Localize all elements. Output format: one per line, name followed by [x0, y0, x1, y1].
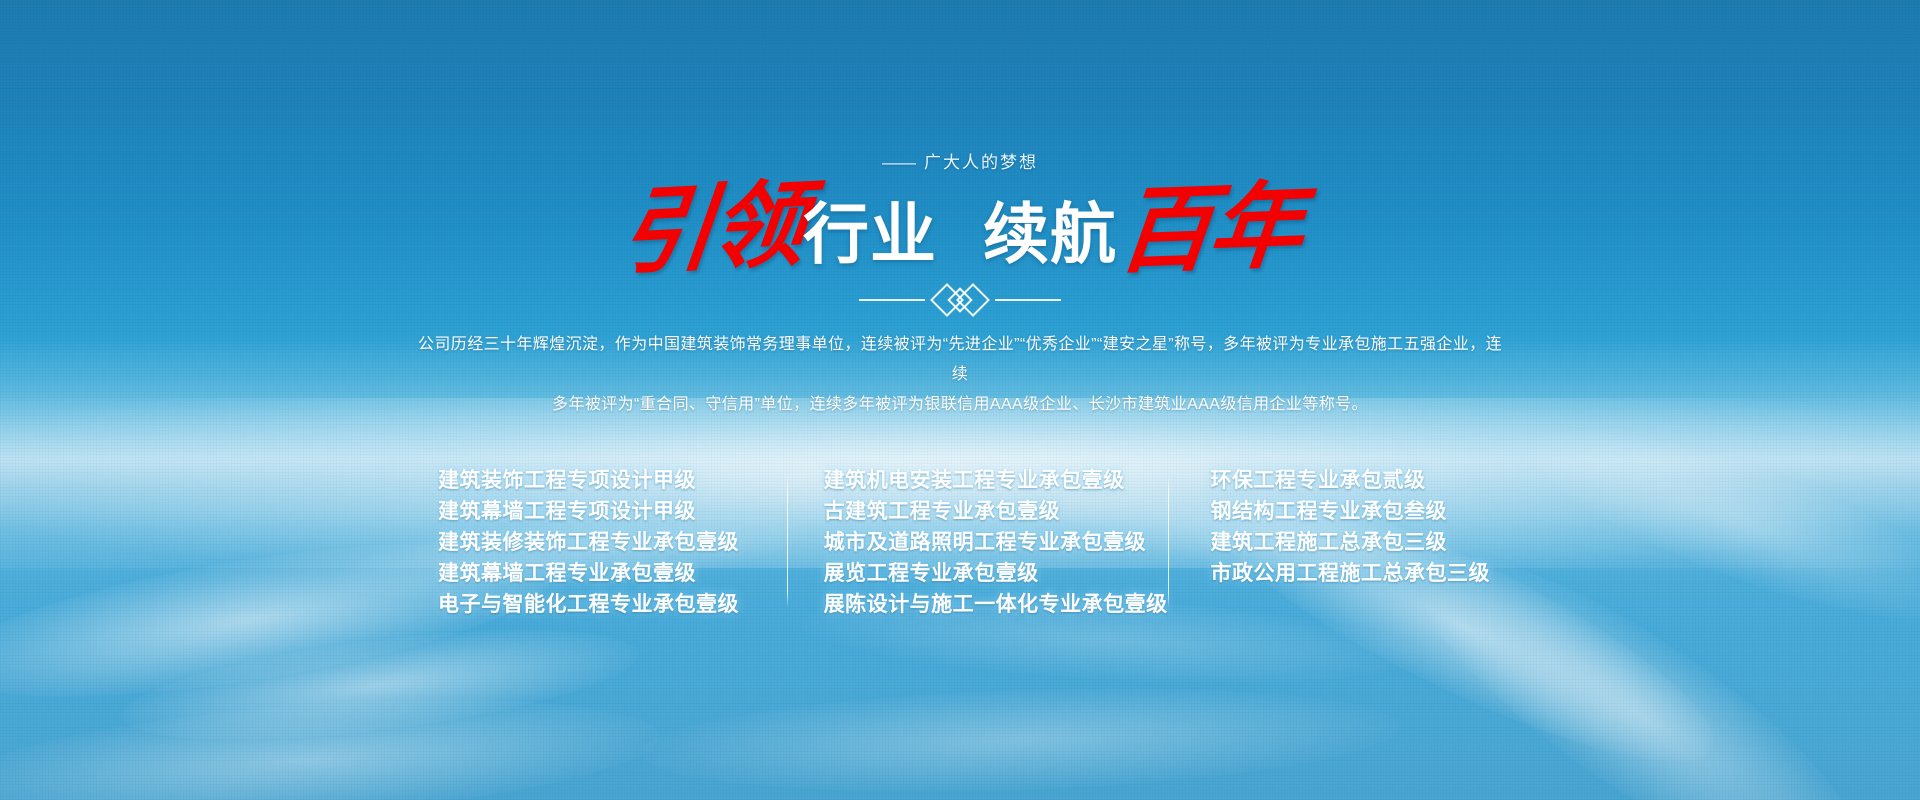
description-line: 公司历经三十年辉煌沉淀，作为中国建筑装饰常务理事单位，连续被评为“先进企业”“优… — [410, 330, 1510, 390]
qualification-column-2: 建筑机电安装工程专业承包壹级 古建筑工程专业承包壹级 城市及道路照明工程专业承包… — [788, 470, 1168, 616]
qualification-column-3: 环保工程专业承包贰级 钢结构工程专业承包叁级 建筑工程施工总承包三级 市政公用工… — [1169, 470, 1491, 585]
description-line: 多年被评为“重合同、守信用”单位，连续多年被评为银联信用AAA级企业、长沙市建筑… — [410, 390, 1510, 420]
qualification-item[interactable]: 建筑装饰工程专项设计甲级 — [438, 470, 787, 492]
divider-diamonds — [939, 288, 981, 312]
qualification-list: 建筑装饰工程专项设计甲级 建筑幕墙工程专项设计甲级 建筑装修装饰工程专业承包壹级… — [430, 470, 1490, 616]
hero-content: ——广大人的梦想 引领行业续航百年 公司历经三十年辉煌沉淀，作为中国建筑装饰常务… — [0, 0, 1920, 800]
qualification-item[interactable]: 环保工程专业承包贰级 — [1211, 470, 1491, 492]
headline-part-century: 百年 — [1112, 179, 1307, 279]
qualification-item[interactable]: 电子与智能化工程专业承包壹级 — [438, 594, 787, 616]
headline-part-industry: 行业 — [803, 202, 937, 268]
divider-line-right — [995, 299, 1061, 301]
headline-part-endurance: 续航 — [983, 202, 1117, 268]
tagline-dash: —— — [882, 153, 916, 172]
qualification-item[interactable]: 建筑幕墙工程专项设计甲级 — [438, 501, 787, 523]
qualification-item[interactable]: 市政公用工程施工总承包三级 — [1211, 563, 1491, 585]
qualification-item[interactable]: 建筑幕墙工程专业承包壹级 — [438, 563, 787, 585]
qualification-item[interactable]: 城市及道路照明工程专业承包壹级 — [824, 532, 1168, 554]
company-description: 公司历经三十年辉煌沉淀，作为中国建筑装饰常务理事单位，连续被评为“先进企业”“优… — [410, 330, 1510, 420]
hero-headline: 引领行业续航百年 — [0, 182, 1920, 276]
qualification-column-1: 建筑装饰工程专项设计甲级 建筑幕墙工程专项设计甲级 建筑装修装饰工程专业承包壹级… — [430, 470, 787, 616]
qualification-item[interactable]: 建筑装修装饰工程专业承包壹级 — [438, 532, 787, 554]
qualification-item[interactable]: 建筑机电安装工程专业承包壹级 — [824, 470, 1168, 492]
diamond-divider-icon — [0, 288, 1920, 312]
qualification-item[interactable]: 展览工程专业承包壹级 — [824, 563, 1168, 585]
tagline-text: 广大人的梦想 — [924, 153, 1038, 172]
hero-banner: ——广大人的梦想 引领行业续航百年 公司历经三十年辉煌沉淀，作为中国建筑装饰常务… — [0, 0, 1920, 800]
qualification-item[interactable]: 建筑工程施工总承包三级 — [1211, 532, 1491, 554]
qualification-item[interactable]: 展陈设计与施工一体化专业承包壹级 — [824, 594, 1168, 616]
headline-part-lead: 引领 — [613, 177, 808, 281]
divider-line-left — [859, 299, 925, 301]
qualification-item[interactable]: 钢结构工程专业承包叁级 — [1211, 501, 1491, 523]
hero-tagline: ——广大人的梦想 — [0, 148, 1920, 173]
qualification-item[interactable]: 古建筑工程专业承包壹级 — [824, 501, 1168, 523]
